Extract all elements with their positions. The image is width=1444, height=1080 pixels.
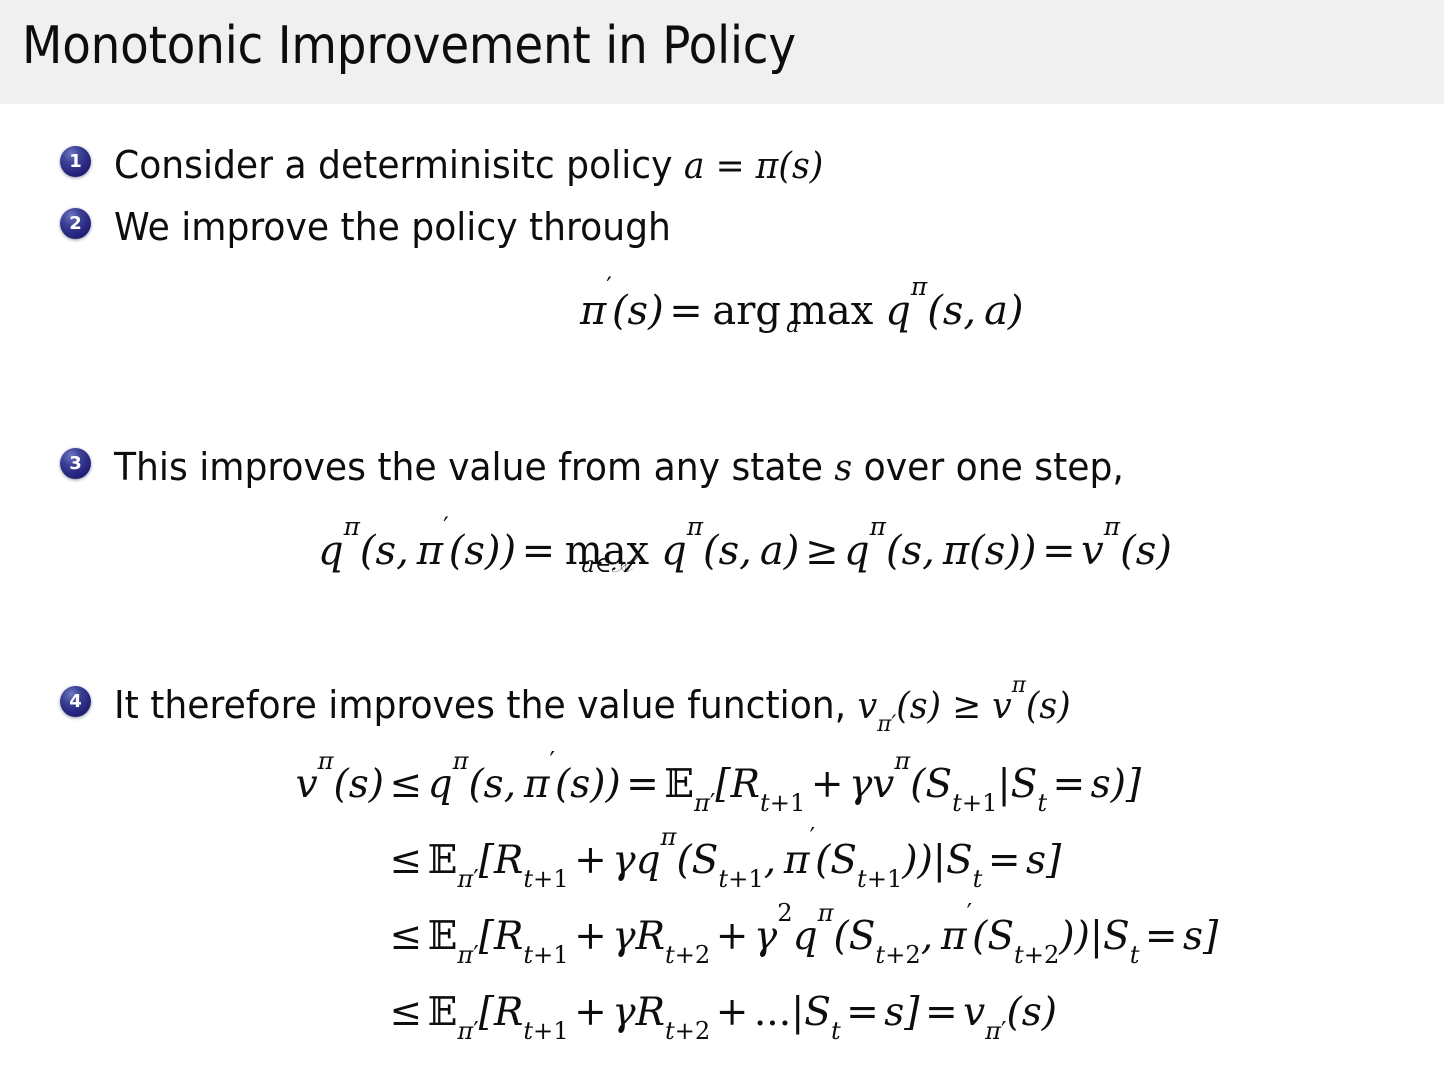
bullet-4-inline-math: vπ′(s) ≥ vπ(s) xyxy=(858,684,1071,727)
slide-title-band: Monotonic Improvement in Policy xyxy=(0,0,1444,104)
derivation-line-2: ≤𝔼π′[Rt+1+γqπ(St+1, π′(St+1))|St=s] xyxy=(238,838,1218,914)
bullet-3-prose-after: over one step, xyxy=(852,445,1124,489)
list-item: 4 It therefore improves the value functi… xyxy=(60,686,1121,724)
derivation-line-4: ≤𝔼π′[Rt+1+γRt+2+...|St=s]=vπ′(s) xyxy=(238,990,1218,1066)
bullet-1-inline-math: a = π(s) xyxy=(684,144,823,187)
page-title: Monotonic Improvement in Policy xyxy=(22,16,796,76)
list-item: 3 This improves the value from any state… xyxy=(60,448,1177,486)
slide-body: 1 Consider a determinisitc policy a = π(… xyxy=(0,104,1444,1080)
derivation-line-2-rhs: ≤𝔼π′[Rt+1+γqπ(St+1, π′(St+1))|St=s] xyxy=(384,838,1061,883)
list-item: 1 Consider a determinisitc policy a = π(… xyxy=(60,146,861,184)
derivation-line-4-rhs: ≤𝔼π′[Rt+1+γRt+2+...|St=s]=vπ′(s) xyxy=(384,990,1057,1035)
equation-value-function-derivation: vπ(s) ≤qπ(s, π′(s))=𝔼π′[Rt+1+γvπ(St+1|St… xyxy=(238,762,1218,1066)
list-item: 2 We improve the policy through xyxy=(60,208,700,246)
bullet-1-prose: Consider a determinisitc policy xyxy=(114,143,684,187)
bullet-3-prose-before: This improves the value from any state xyxy=(114,445,834,489)
bullet-marker-1: 1 xyxy=(60,146,91,177)
derivation-line-1-rhs: ≤qπ(s, π′(s))=𝔼π′[Rt+1+γvπ(St+1|St=s)] xyxy=(384,762,1141,807)
derivation-line-1-lhs: vπ(s) xyxy=(238,762,384,807)
bullet-marker-4: 4 xyxy=(60,686,91,717)
equation-policy-improvement: π′(s)=arg maxa qπ(s, a) xyxy=(580,288,1024,334)
derivation-line-3-rhs: ≤𝔼π′[Rt+1+γRt+2+γ2qπ(St+2, π′(St+2))|St=… xyxy=(384,914,1218,959)
bullet-text-1: Consider a determinisitc policy a = π(s) xyxy=(114,146,823,184)
derivation-line-3: ≤𝔼π′[Rt+1+γRt+2+γ2qπ(St+2, π′(St+2))|St=… xyxy=(238,914,1218,990)
max-operator: maxa∈𝒜 xyxy=(561,531,653,571)
bullet-marker-3: 3 xyxy=(60,448,91,479)
bullet-3-inline-math: s xyxy=(834,446,852,489)
argmax-operator: arg maxa xyxy=(708,291,877,331)
bullet-text-2: We improve the policy through xyxy=(114,208,671,246)
bullet-4-prose: It therefore improves the value function… xyxy=(114,683,858,727)
equation-one-step-improvement: qπ(s, π′(s))=maxa∈𝒜 qπ(s, a)≥qπ(s, π(s))… xyxy=(318,528,1172,574)
bullet-marker-2: 2 xyxy=(60,208,91,239)
derivation-line-1: vπ(s) ≤qπ(s, π′(s))=𝔼π′[Rt+1+γvπ(St+1|St… xyxy=(238,762,1218,838)
bullet-text-4: It therefore improves the value function… xyxy=(114,686,1071,724)
bullet-text-3: This improves the value from any state s… xyxy=(114,448,1124,486)
